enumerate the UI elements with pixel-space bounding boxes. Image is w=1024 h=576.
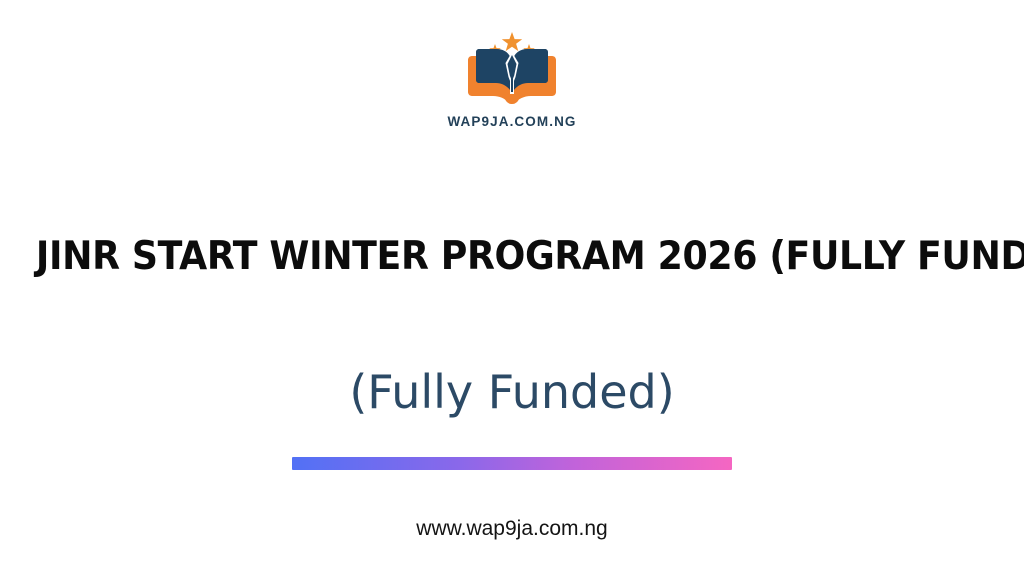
site-logo[interactable]: WAP9JA.COM.NG	[0, 30, 1024, 129]
footer-website-url: www.wap9ja.com.ng	[0, 515, 1024, 543]
gradient-rule	[292, 457, 732, 470]
article-banner: WAP9JA.COM.NG JINR START WINTER PROGRAM …	[0, 0, 1024, 576]
subtitle: (Fully Funded)	[0, 363, 1024, 421]
logo-wordmark: WAP9JA.COM.NG	[447, 114, 576, 129]
divider-container	[0, 457, 1024, 470]
page-title: JINR START WINTER PROGRAM 2026 (FULLY FU…	[36, 232, 988, 282]
open-book-with-pen-and-stars-icon	[460, 30, 564, 108]
